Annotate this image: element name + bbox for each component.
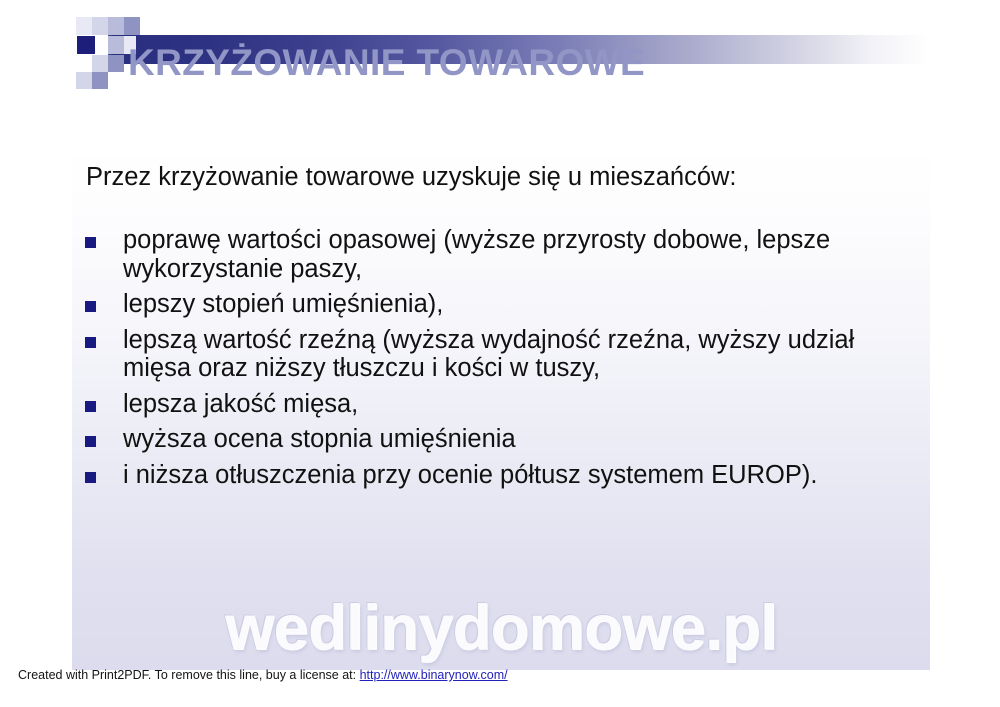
print2pdf-footer: Created with Print2PDF. To remove this l… (18, 668, 508, 682)
deco-square-1 (76, 17, 92, 35)
bullet-square-icon (85, 436, 96, 447)
bullet-square-icon (85, 301, 96, 312)
list-item: wyższa ocena stopnia umięśnienia (80, 425, 926, 454)
bullet-square-icon (85, 472, 96, 483)
list-item-label: lepsza jakość mięsa, (123, 390, 926, 419)
list-item-label: lepszą wartość rzeźną (wyższa wydajność … (123, 326, 926, 383)
binarynow-link[interactable]: http://www.binarynow.com/ (360, 668, 508, 682)
list-item: lepsza jakość mięsa, (80, 390, 926, 419)
intro-paragraph: Przez krzyżowanie towarowe uzyskuje się … (86, 163, 737, 192)
list-item: lepszą wartość rzeźną (wyższa wydajność … (80, 326, 926, 383)
deco-square-6 (92, 55, 108, 72)
list-item-label: poprawę wartości opasowej (wyższe przyro… (123, 226, 926, 283)
deco-square-5 (108, 36, 124, 54)
deco-square-navy (77, 36, 95, 54)
bullet-square-icon (85, 337, 96, 348)
bullet-square-icon (85, 401, 96, 412)
deco-square-9 (76, 72, 92, 89)
list-item-label: lepszy stopień umięśnienia), (123, 290, 926, 319)
deco-square-7 (108, 55, 124, 72)
list-item-label: wyższa ocena stopnia umięśnienia (123, 425, 926, 454)
bullet-square-icon (85, 237, 96, 248)
deco-square-8 (92, 72, 108, 89)
slide-canvas: KRZYŻOWANIE TOWAROWE Przez krzyżowanie t… (72, 0, 930, 670)
deco-square-2 (92, 17, 108, 35)
watermark: wedlinydomowe.pl (72, 592, 930, 664)
list-item: poprawę wartości opasowej (wyższe przyro… (80, 226, 926, 283)
list-item-label: i niższa otłuszczenia przy ocenie półtus… (123, 461, 926, 490)
deco-square-3 (108, 17, 124, 35)
page-title: KRZYŻOWANIE TOWAROWE (128, 44, 645, 83)
footer-text: Created with Print2PDF. To remove this l… (18, 668, 360, 682)
list-item: lepszy stopień umięśnienia), (80, 290, 926, 319)
benefits-list: poprawę wartości opasowej (wyższe przyro… (80, 226, 926, 496)
list-item: i niższa otłuszczenia przy ocenie półtus… (80, 461, 926, 490)
deco-square-4 (124, 17, 140, 35)
